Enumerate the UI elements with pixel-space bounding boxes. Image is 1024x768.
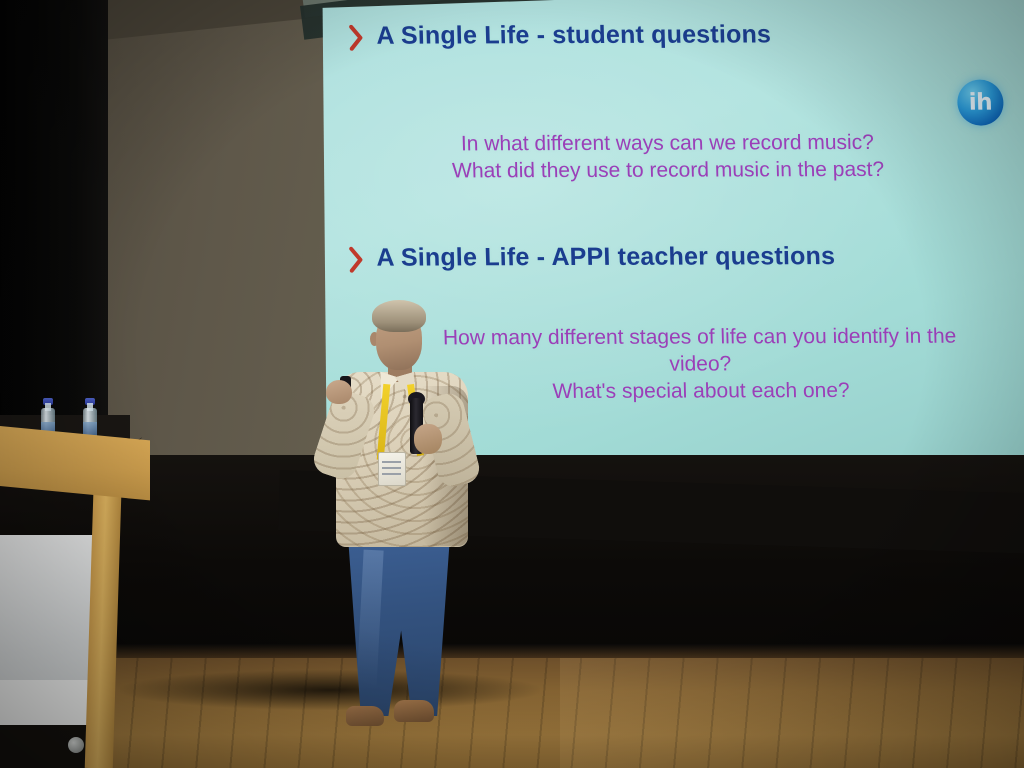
- presenter-hand-left: [326, 380, 352, 404]
- chevron-right-icon: [349, 247, 364, 273]
- badge-line: [382, 461, 401, 463]
- podium-caster: [68, 737, 84, 753]
- presenter-hand-right: [414, 424, 442, 454]
- podium: [0, 425, 170, 768]
- question-text: What's special about each one?: [431, 377, 972, 406]
- presenter-badge: [378, 452, 406, 486]
- chevron-right-icon: [349, 25, 364, 51]
- slide-questions-1: In what different ways can we record mus…: [432, 130, 904, 185]
- badge-line: [382, 473, 401, 475]
- slide-questions-2: How many different stages of life can yo…: [429, 324, 971, 406]
- presenter-shoe-left: [346, 706, 384, 726]
- floor-highlight: [560, 658, 1024, 768]
- slide-heading-1: A Single Life - student questions: [376, 20, 771, 50]
- badge-line: [382, 467, 401, 469]
- ih-logo: ih: [957, 80, 1004, 126]
- podium-panel-lower: [0, 680, 100, 726]
- slide-section-1-heading-row: A Single Life - student questions: [349, 20, 771, 50]
- presenter-shoe-right: [394, 700, 434, 722]
- ih-logo-text: ih: [968, 91, 992, 114]
- question-text: How many different stages of life can yo…: [429, 324, 971, 380]
- presenter-hair: [372, 300, 426, 332]
- slide-section-2-heading-row: A Single Life - APPI teacher questions: [349, 242, 836, 273]
- podium-top-surface: [0, 425, 150, 500]
- question-text: What did they use to record music in the…: [433, 157, 904, 186]
- question-text: In what different ways can we record mus…: [432, 130, 903, 159]
- podium-leg-right: [85, 473, 122, 768]
- presentation-photo: A Single Life - student questions In wha…: [0, 0, 1024, 768]
- slide-heading-2: A Single Life - APPI teacher questions: [376, 242, 836, 273]
- presenter: [318, 300, 488, 755]
